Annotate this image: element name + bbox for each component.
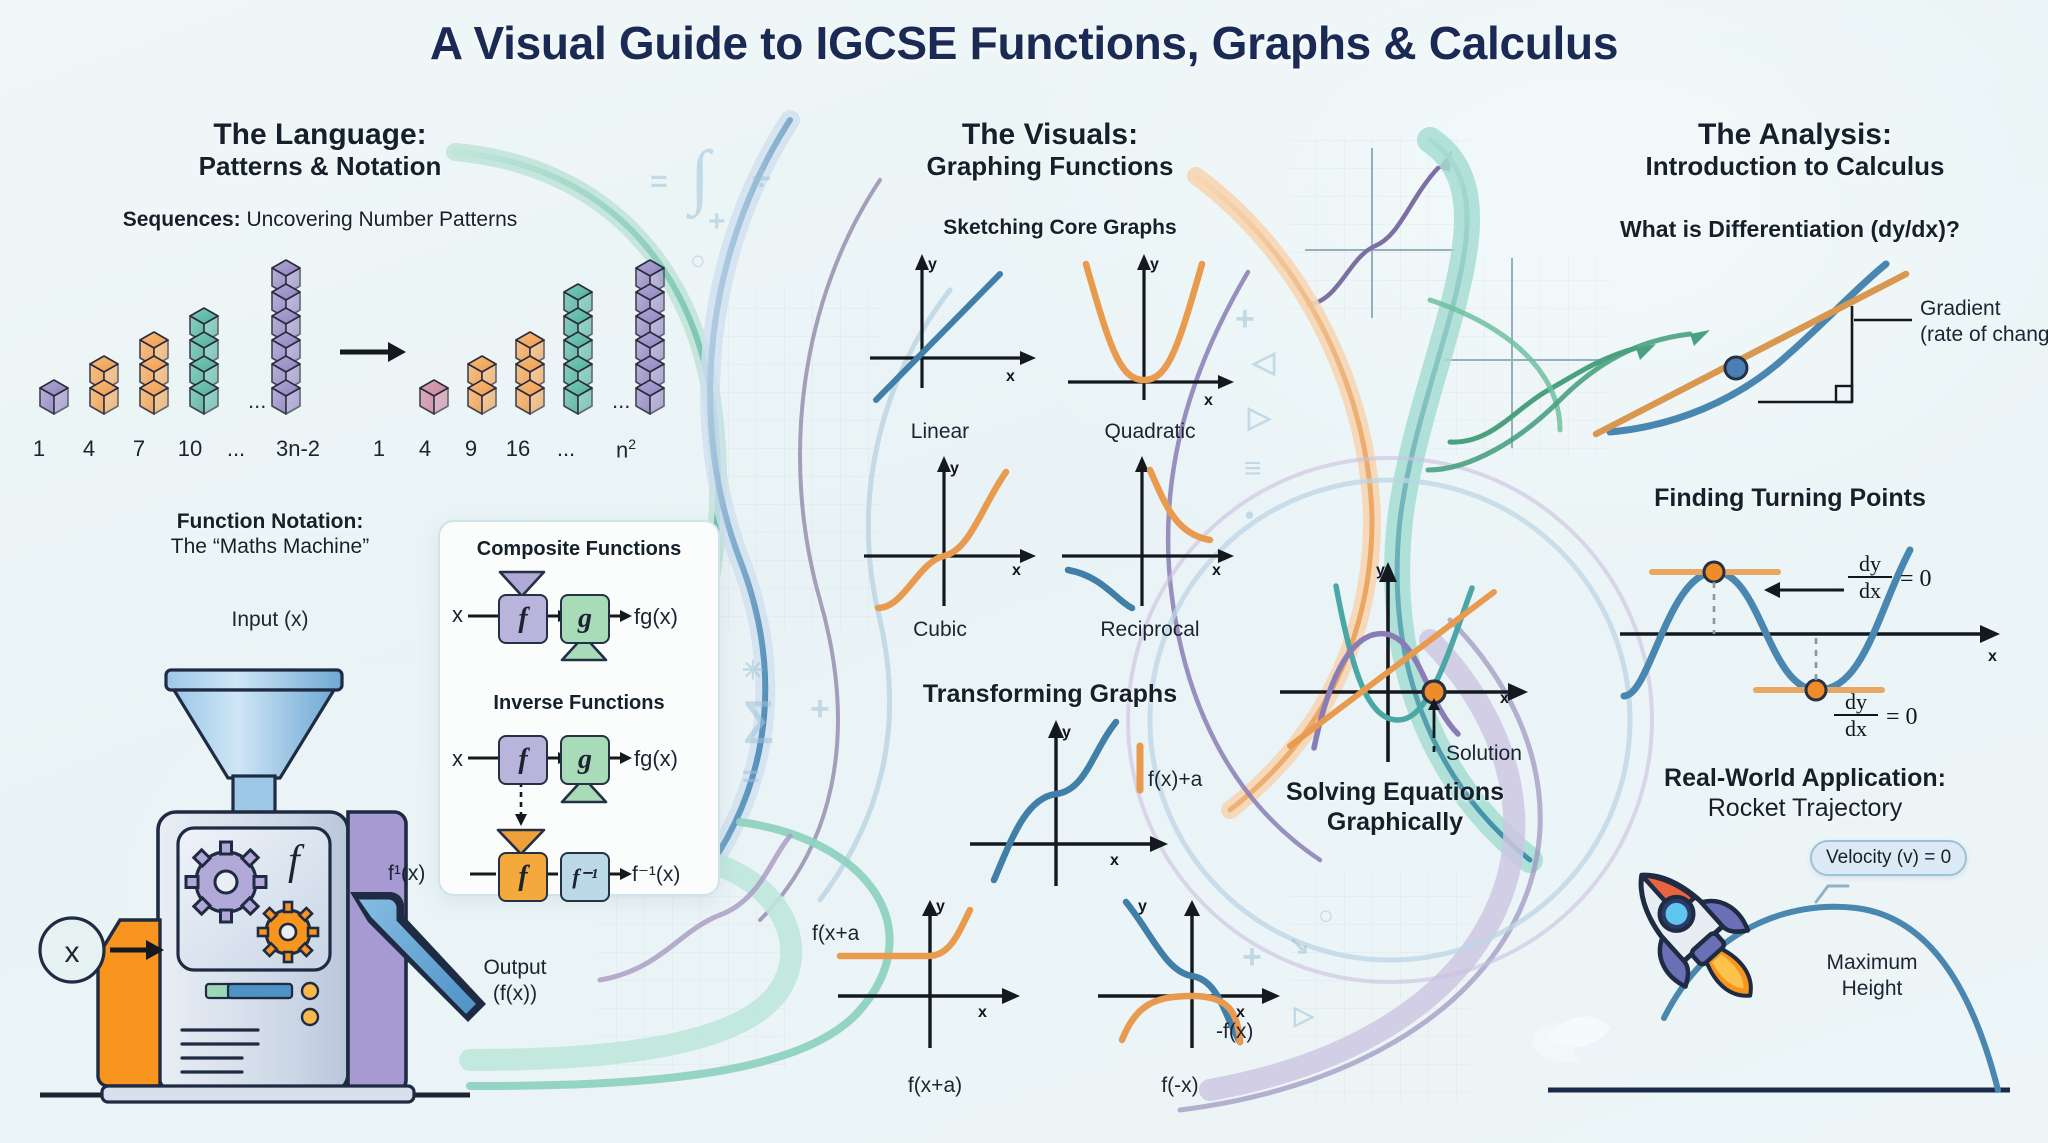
graph-transform-horizontal-marker: f(x+a (812, 922, 932, 946)
heading-line-2: Patterns & Notation (40, 152, 600, 182)
rocket-max-height-label: Maximum Height (1782, 950, 1962, 1003)
graph-linear-x-axis-label: x (1006, 368, 1015, 386)
glyph-divide: ÷ (752, 160, 771, 199)
heading-line-2: Introduction to Calculus (1540, 152, 2048, 182)
graph-linear-y-axis-label: y (928, 256, 937, 274)
graph-transform-horizontal-y-axis-label: y (936, 898, 945, 916)
rocket-title: Real-World Application: (1560, 764, 2048, 794)
composite-input-label: x (452, 602, 463, 628)
machine-input-label: Input (x) (110, 608, 430, 632)
inverse-row2-box-f: f (498, 852, 548, 902)
heading-line-1: The Language: (40, 118, 600, 152)
inverse-input-label: x (452, 746, 463, 772)
sequence-transition-arrow (340, 342, 406, 362)
sketching-core-graphs-heading: Sketching Core Graphs (830, 216, 1290, 240)
column-heading-visuals: The Visuals: Graphing Functions (790, 118, 1310, 182)
inverse-box-f: f (498, 735, 548, 785)
min-derivative-denominator: dx (1834, 717, 1878, 740)
sequence-linear-label-3: 10 (170, 436, 210, 462)
turning-points-heading: Finding Turning Points (1560, 484, 2020, 513)
rocket-max-height-line2: Height (1782, 976, 1962, 1002)
functions-panel: Composite Functions Inverse Functions x … (438, 520, 720, 896)
column-heading-analysis: The Analysis: Introduction to Calculus (1540, 118, 2048, 182)
graph-transform-vertical-x-axis-label: x (1110, 852, 1119, 870)
turning-point-max-derivative-fraction: dy dx (1848, 552, 1892, 602)
graph-linear-caption: Linear (850, 420, 1030, 444)
sequence-blocks-diagram: ... ... (20, 240, 640, 430)
page-title: A Visual Guide to IGCSE Functions, Graph… (0, 16, 2048, 70)
glyph-equiv: ≡ (1244, 452, 1262, 486)
glyph-integral: ∫ (690, 135, 710, 218)
sequence-quadratic-n: n (616, 437, 628, 462)
graph-cubic-x-axis-label: x (1012, 562, 1021, 580)
max-derivative-denominator: dx (1848, 579, 1892, 602)
glyph-asterisk: ✳ (742, 655, 764, 686)
inverse-row2-box-finv: f⁻¹ (560, 852, 610, 902)
composite-box-f: f (498, 594, 548, 644)
sequence-quadratic-label-5: n2 (586, 436, 666, 463)
solving-caption-line2: Graphically (1230, 808, 1560, 838)
sequences-heading-bold: Sequences: (123, 208, 241, 231)
graph-quadratic-x-axis-label: x (1204, 392, 1213, 410)
max-derivative-numerator: dy (1848, 552, 1892, 575)
heading-line-2: Graphing Functions (790, 152, 1310, 182)
column-heading-language: The Language: Patterns & Notation (40, 118, 600, 182)
sequence-quadratic-label-3: 16 (498, 436, 538, 462)
glyph-triangle-right: ▷ (1248, 400, 1271, 435)
composite-functions-title: Composite Functions (440, 538, 718, 561)
infographic-canvas: = ∫ ÷ + ○ ∑ + = ✳ + ◁ ▷ ≡ • + ○ ▷ ↘ A Vi… (0, 0, 2048, 1143)
solving-caption-line1: Solving Equations (1230, 778, 1560, 808)
composite-output-label: fg(x) (634, 604, 678, 630)
turning-point-min-equals-zero: = 0 (1886, 704, 1918, 731)
graph-transform-reflect-marker: -f(x) (1216, 1020, 1316, 1044)
inverse-row2-left-label: f¹(x) (388, 862, 425, 886)
graph-solving-annotation: Solution (1446, 742, 1566, 766)
graph-quadratic-y-axis-label: y (1150, 256, 1159, 274)
sequence-quadratic-label-1: 4 (410, 436, 440, 462)
graph-solving-y-axis-label: y (1376, 562, 1385, 580)
glyph-circle-1: ○ (690, 245, 706, 276)
sequence-linear-label-2: 7 (124, 436, 154, 462)
sequence-quadratic-label-2: 9 (456, 436, 486, 462)
differentiation-callout-line2: (rate of change) (1920, 322, 2048, 348)
composite-box-g: g (560, 594, 610, 644)
graph-reciprocal (1058, 466, 1238, 616)
glyph-equals-1: = (650, 165, 668, 199)
differentiation-callout: Gradient (rate of change) (1920, 296, 2048, 349)
machine-output-line1: Output (430, 955, 600, 981)
svg-text:...: ... (248, 388, 266, 413)
sequence-linear-label-0: 1 (24, 436, 54, 462)
inverse-functions-title: Inverse Functions (440, 692, 718, 715)
graph-transform-vertical (960, 728, 1190, 888)
differentiation-callout-line1: Gradient (1920, 296, 2048, 322)
transforming-graphs-heading: Transforming Graphs (860, 680, 1240, 709)
glyph-plus-2: + (810, 690, 830, 729)
machine-output-label: Output (f(x)) (430, 955, 600, 1008)
inverse-box-g: g (560, 735, 610, 785)
inverse-output-label: fg(x) (634, 746, 678, 772)
function-notation-heading: Function Notation: The “Maths Machine” (60, 510, 480, 560)
graph-reciprocal-x-axis-label: x (1212, 562, 1221, 580)
graph-transform-reflect-caption: f(-x) (1100, 1074, 1260, 1098)
glyph-equals-2: = (742, 760, 760, 794)
graph-cubic (860, 466, 1040, 616)
sequences-heading: Sequences: Uncovering Number Patterns (20, 208, 620, 232)
min-derivative-numerator: dy (1834, 690, 1878, 713)
sequences-heading-rest: Uncovering Number Patterns (241, 208, 518, 231)
glyph-plus-1: + (708, 205, 726, 239)
sequence-quadratic-exponent: 2 (628, 436, 636, 452)
differentiation-heading: What is Differentiation (dy/dx)? (1540, 216, 2040, 243)
graph-reciprocal-caption: Reciprocal (1040, 618, 1260, 642)
sequence-linear-label-1: 4 (74, 436, 104, 462)
graph-differentiation (1586, 250, 2016, 450)
sequence-quadratic-label-0: 1 (364, 436, 394, 462)
sequence-quadratic-label-4: ... (546, 436, 586, 462)
graph-turning-points (1610, 524, 2030, 724)
rocket-heading: Real-World Application: Rocket Trajector… (1560, 764, 2048, 823)
glyph-sigma: ∑ (742, 690, 775, 744)
graph-quadratic-caption: Quadratic (1050, 420, 1250, 444)
turning-point-max-equals-zero: = 0 (1900, 566, 1932, 593)
svg-text:...: ... (612, 388, 630, 413)
glyph-triangle-left: ◁ (1252, 345, 1275, 380)
heading-line-1: The Visuals: (790, 118, 1310, 152)
rocket-subtitle: Rocket Trajectory (1560, 794, 2048, 824)
function-notation-subtitle: The “Maths Machine” (60, 535, 480, 560)
graph-transform-horizontal-caption: f(x+a) (850, 1074, 1020, 1098)
heading-line-1: The Analysis: (1540, 118, 2048, 152)
sequence-linear-label-5: 3n-2 (258, 436, 338, 462)
sequence-linear-label-4: ... (216, 436, 256, 462)
graph-quadratic (1058, 258, 1238, 398)
function-notation-title: Function Notation: (60, 510, 480, 535)
graph-cubic-caption: Cubic (850, 618, 1030, 642)
glyph-circle-2: ○ (1318, 900, 1334, 931)
inverse-row2-output-label: f⁻¹(x) (632, 862, 680, 887)
graph-transform-vertical-y-axis-label: y (1062, 724, 1071, 742)
graph-turning-points-x-axis-label: x (1988, 648, 1997, 666)
machine-input-token: x (65, 936, 80, 969)
machine-output-line2: (f(x)) (430, 981, 600, 1007)
glyph-dot: • (1245, 500, 1254, 531)
graph-transform-horizontal-x-axis-label: x (978, 1004, 987, 1022)
solving-equations-caption: Solving Equations Graphically (1230, 778, 1560, 837)
turning-point-min-derivative-fraction: dy dx (1834, 690, 1878, 740)
rocket-max-height-line1: Maximum (1782, 950, 1962, 976)
graph-cubic-y-axis-label: y (950, 460, 959, 478)
graph-solving-x-axis-label: x (1500, 690, 1509, 708)
graph-transform-reflect-y-axis-label: y (1138, 898, 1147, 916)
